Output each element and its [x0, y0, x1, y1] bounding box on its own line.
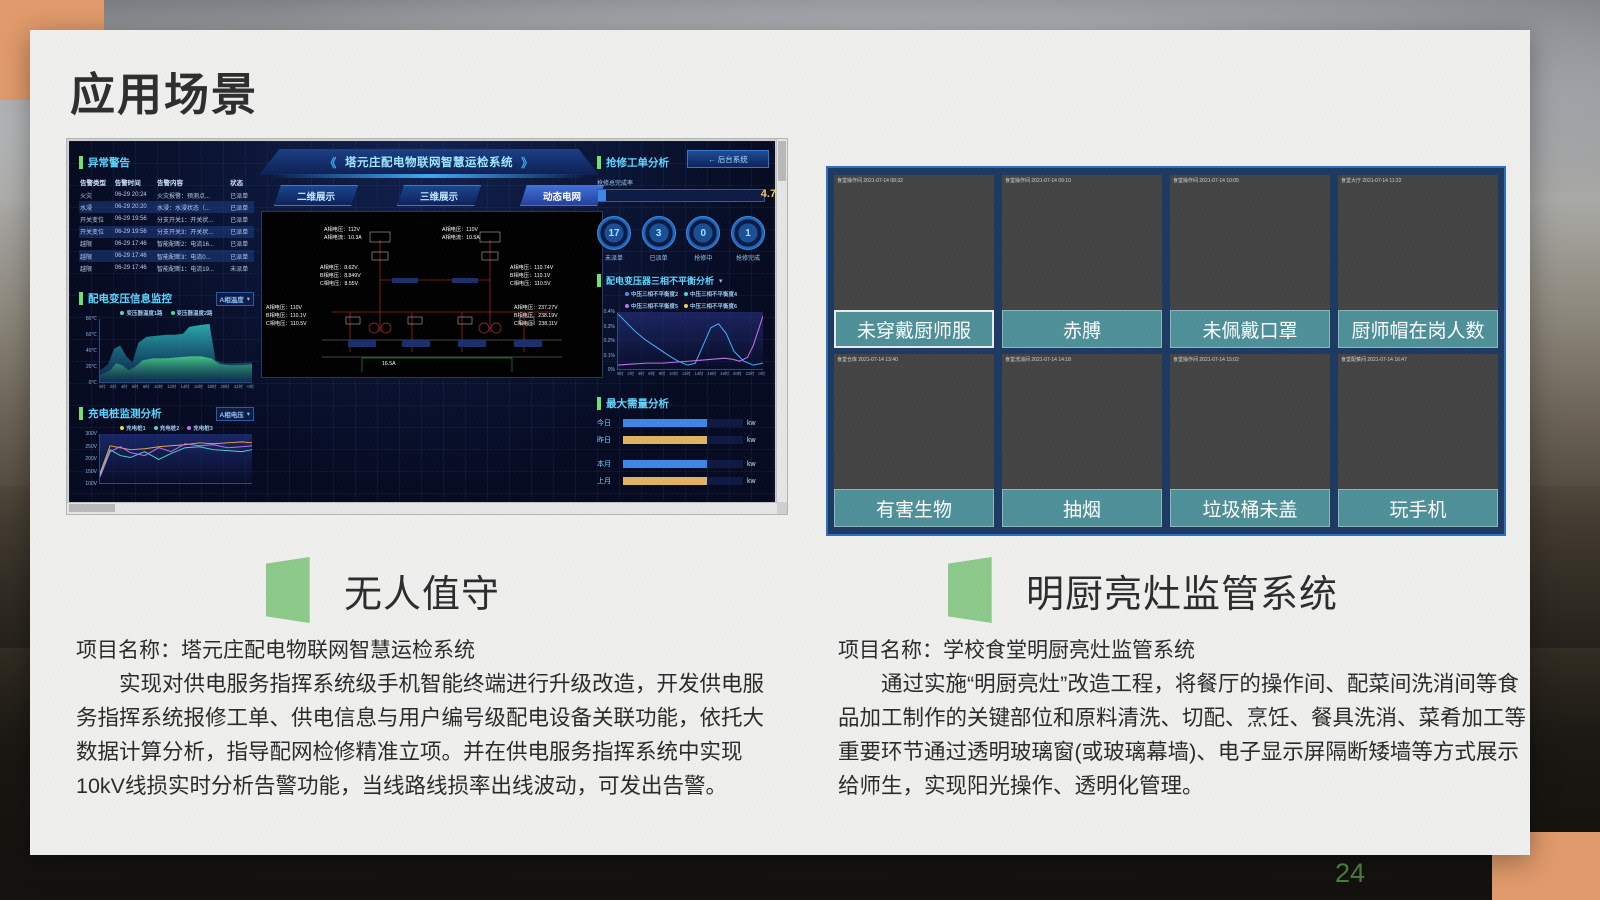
- unbalance-y-axis: 0.4%0.3%0.2%0.1%0%: [597, 312, 615, 370]
- charger-plot: [99, 434, 252, 484]
- demand-bar: [623, 477, 743, 485]
- legend-swatch: [171, 311, 175, 315]
- transformer-panel-header: 配电变压信息监控 A相温度 ▾: [79, 291, 254, 306]
- gauge-value: 3: [642, 216, 676, 250]
- demand-unit: kw: [747, 437, 765, 444]
- axis-tick: 20时: [733, 371, 742, 380]
- axis-tick: 14时: [181, 384, 190, 393]
- alert-panel-title: 异常警告: [88, 155, 130, 170]
- camera-photo[interactable]: 食堂洗消间 2021-07-14 14:18: [1002, 354, 1162, 489]
- axis-tick: 150V: [85, 469, 97, 475]
- repair-order-panel: 抢修工单分析 抢修总完成率 4.76% 17未派单3已派单0抢修中1抢修完成: [597, 155, 765, 262]
- cell-status: 已派单: [229, 201, 254, 213]
- cell-time: 06-29 19:56: [114, 213, 156, 225]
- dashboard-title: 塔元庄配电物联网智慧运检系统: [345, 154, 513, 170]
- unbalance-panel-header: 配电变压器三相不平衡分析 ▾: [597, 274, 765, 287]
- camera-timestamp: 食堂仓库 2021-07-14 13:40: [837, 356, 898, 363]
- cell-type: 越限: [79, 238, 114, 250]
- axis-tick: 250V: [85, 444, 97, 450]
- chevron-down-icon: ▾: [247, 410, 250, 418]
- chevron-down-icon[interactable]: ▾: [719, 277, 723, 285]
- charger-phase-select[interactable]: A相电压 ▾: [216, 407, 254, 421]
- axis-tick: 0时: [247, 384, 254, 393]
- camera-row: 食堂操作间 2021-07-14 08:32未穿戴厨师服食堂操作间 2021-0…: [832, 172, 1500, 351]
- axis-tick: 2时: [627, 371, 634, 380]
- camera-label[interactable]: 玩手机: [1338, 489, 1498, 527]
- charger-chart: 300V250V200V150V100V: [79, 434, 254, 494]
- legend-swatch: [625, 304, 629, 308]
- axis-tick: 8时: [143, 384, 150, 393]
- cell-content: 智能配断3：电流0...: [156, 250, 229, 262]
- cell-type: 越限: [79, 262, 114, 274]
- nav-button-3d[interactable]: 三维展示: [397, 185, 481, 206]
- legend-swatch: [120, 311, 124, 315]
- table-row[interactable]: 开关变位06-29 19:56分支开关1：开关状...已派单: [79, 213, 254, 225]
- section-right-project: 项目名称：学校食堂明厨亮灶监管系统: [838, 634, 1538, 664]
- camera-label[interactable]: 未穿戴厨师服: [834, 310, 994, 348]
- col-content: 告警内容: [156, 175, 229, 189]
- unbalance-panel: 配电变压器三相不平衡分析 ▾ 中压三相不平衡度2 中压三相不平衡度4 中压三相不…: [597, 274, 765, 380]
- transformer-monitor-panel: 配电变压信息监控 A相温度 ▾ 变压器温度1路 变压器温度2路 80℃60℃40…: [79, 291, 254, 393]
- axis-tick: 4时: [121, 384, 128, 393]
- legend-item: 中压三相不平衡度5: [625, 302, 678, 310]
- alert-panel-header: 异常警告: [79, 155, 254, 170]
- cell-time: 06-29 17:46: [114, 250, 156, 262]
- axis-tick: 100V: [85, 481, 97, 487]
- legend-item: 变压器温度1路: [120, 309, 162, 317]
- axis-tick: 20℃: [86, 364, 97, 370]
- diagram-label: A相电压：110VA相电流：10.5A: [442, 226, 480, 242]
- axis-tick: 300V: [85, 431, 97, 437]
- table-row[interactable]: 越限06-29 17:46智能配断2：电流16...已派单: [79, 238, 254, 250]
- unbalance-panel-title: 配电变压器三相不平衡分析: [606, 274, 714, 287]
- camera-label[interactable]: 厨师帽在岗人数: [1338, 310, 1498, 348]
- demand-row: 本月kw: [597, 459, 765, 469]
- camera-cell[interactable]: 食堂操作间 2021-07-14 09:10赤膊: [1002, 175, 1162, 348]
- table-row[interactable]: 水浸06-29 20:20水浸：水浸状态（...已派单: [79, 201, 254, 213]
- bookmark-shape-icon: [948, 557, 1004, 623]
- cell-content: 分支开关3：开关状...: [156, 226, 229, 238]
- header-underline: [269, 174, 589, 178]
- axis-tick: 16时: [194, 384, 203, 393]
- diagram-label: A相电压：8.62VB相电压：8.849VC相电压：8.55V: [320, 264, 361, 288]
- section-left: 无人值守 项目名称：塔元庄配电物联网智慧运检系统 实现对供电服务指挥系统级手机智…: [76, 550, 776, 804]
- select-value: A相温度: [220, 294, 244, 304]
- axis-tick: 8时: [659, 371, 666, 380]
- demand-unit: kw: [747, 420, 765, 427]
- panel-marker-icon: [597, 397, 601, 410]
- progress-fill: [598, 190, 606, 201]
- gauge-label: 未派单: [597, 253, 631, 262]
- axis-tick: 6时: [648, 371, 655, 380]
- nav-button-dynamic-grid[interactable]: 动态电网: [520, 185, 604, 206]
- charger-panel-header: 充电桩监测分析 A相电压 ▾: [79, 406, 254, 421]
- progress-value: 4.76%: [761, 188, 775, 200]
- table-row[interactable]: 开关变位06-29 19:56分支开关3：开关状...已派单: [79, 226, 254, 238]
- table-row[interactable]: 越限06-29 17:46智能配断1：电流19...未派单: [79, 262, 254, 274]
- axis-tick: 0.1%: [604, 353, 615, 359]
- order-panel-title: 抢修工单分析: [606, 155, 669, 170]
- camera-timestamp: 食堂洗消间 2021-07-14 14:18: [1005, 356, 1071, 363]
- camera-label[interactable]: 赤膊: [1002, 310, 1162, 348]
- demand-panel-header: 最大需量分析: [597, 396, 765, 411]
- nav-button-2d[interactable]: 二维展示: [274, 185, 358, 206]
- transformer-plot: [99, 319, 252, 383]
- camera-label[interactable]: 抽烟: [1002, 489, 1162, 527]
- demand-bar: [623, 460, 743, 468]
- camera-photo[interactable]: 食堂操作间 2021-07-14 08:32: [834, 175, 994, 310]
- alert-table: 告警类型 告警时间 告警内容 状态 火灾06-29 20:24火灾报警：预测点.…: [79, 175, 254, 274]
- section-left-body: 实现对供电服务指挥系统级手机智能终端进行升级改造，开发供电服务指挥系统报修工单、…: [76, 668, 776, 804]
- panel-marker-icon: [79, 407, 83, 420]
- legend-item: 变压器温度2路: [171, 309, 213, 317]
- legend-swatch: [187, 426, 191, 430]
- cell-type: 火灾: [79, 189, 114, 201]
- col-type: 告警类型: [79, 175, 114, 189]
- gauge-label: 抢修中: [686, 253, 720, 262]
- axis-tick: 40℃: [86, 348, 97, 354]
- camera-timestamp: 食堂操作间 2021-07-14 09:10: [1005, 177, 1071, 184]
- camera-label[interactable]: 垃圾桶未盖: [1170, 489, 1330, 527]
- legend-item: 充电桩3: [187, 424, 213, 432]
- table-row[interactable]: 越限06-29 17:46智能配断3：电流0...已派单: [79, 250, 254, 262]
- cell-status: 未派单: [229, 262, 254, 274]
- select-value: A相电压: [220, 409, 244, 419]
- cell-time: 06-29 20:20: [114, 201, 156, 213]
- camera-grid: 食堂操作间 2021-07-14 08:32未穿戴厨师服食堂操作间 2021-0…: [826, 166, 1506, 536]
- axis-tick: 0.3%: [604, 324, 615, 330]
- camera-label[interactable]: 有害生物: [834, 489, 994, 527]
- camera-cell[interactable]: 食堂洗消间 2021-07-14 14:18抽烟: [1002, 354, 1162, 527]
- demand-label: 本月: [597, 459, 619, 469]
- camera-row: 食堂仓库 2021-07-14 13:40有害生物食堂洗消间 2021-07-1…: [832, 351, 1500, 530]
- slide-card: 应用场景 《 塔元庄配电物联网智慧运检系统 》 ← 后台系统 二维展示 三维展示…: [30, 30, 1530, 855]
- legend-item: 充电桩1: [120, 424, 146, 432]
- axis-tick: 0%: [608, 367, 615, 373]
- cell-type: 越限: [79, 250, 114, 262]
- dashboard-nav: 二维展示 三维展示 动态电网: [274, 185, 604, 206]
- camera-cell[interactable]: 食堂操作间 2021-07-14 08:32未穿戴厨师服: [834, 175, 994, 348]
- unbalance-plot: [617, 312, 763, 370]
- diagram-label: 16.5A: [382, 360, 396, 368]
- legend-swatch: [154, 426, 158, 430]
- cell-type: 开关变位: [79, 213, 114, 225]
- camera-photo[interactable]: 食堂操作间 2021-07-14 09:10: [1002, 175, 1162, 310]
- camera-cell[interactable]: 食堂仓库 2021-07-14 13:40有害生物: [834, 354, 994, 527]
- cell-time: 06-29 19:56: [114, 226, 156, 238]
- single-line-diagram[interactable]: A相电压：112VA相电流：10.3AA相电压：110VA相电流：10.5AA相…: [261, 211, 603, 378]
- camera-photo[interactable]: 食堂大厅 2021-07-14 11:22: [1338, 175, 1498, 310]
- panel-marker-icon: [597, 156, 601, 169]
- cell-status: 已派单: [229, 250, 254, 262]
- legend-swatch: [684, 304, 688, 308]
- demand-label: 上月: [597, 476, 619, 486]
- axis-tick: 10时: [669, 371, 678, 380]
- axis-tick: 14时: [695, 371, 704, 380]
- demand-bar: [623, 436, 743, 444]
- gauge-label: 已派单: [642, 253, 676, 262]
- dashboard-horizontal-scrollbar[interactable]: [67, 502, 777, 514]
- demand-panel-title: 最大需量分析: [606, 396, 669, 411]
- charger-monitor-panel: 充电桩监测分析 A相电压 ▾ 充电桩1 充电桩2 充电桩3 300V250V20…: [79, 406, 254, 494]
- camera-cell[interactable]: 食堂大厅 2021-07-14 11:22厨师帽在岗人数: [1338, 175, 1498, 348]
- demand-label: 昨日: [597, 435, 619, 445]
- transformer-chart: 80℃60℃40℃20℃0℃ 0时2: [79, 319, 254, 393]
- axis-tick: 80℃: [86, 316, 97, 322]
- axis-tick: 200V: [85, 456, 97, 462]
- axis-tick: 0时: [617, 371, 624, 380]
- demand-rows: 今日kw昨日kw本月kw上月kw: [597, 418, 765, 486]
- panel-marker-icon: [79, 292, 83, 305]
- cell-type: 水浸: [79, 201, 114, 213]
- chevron-down-icon: ▾: [247, 295, 250, 303]
- demand-row: 上月kw: [597, 476, 765, 486]
- transformer-phase-select[interactable]: A相温度 ▾: [216, 292, 254, 306]
- gauge[interactable]: 3已派单: [642, 216, 676, 262]
- cell-content: 火灾报警：预测点...: [156, 189, 229, 201]
- cell-status: 已派单: [229, 226, 254, 238]
- panel-marker-icon: [79, 156, 83, 169]
- demand-row: 今日kw: [597, 418, 765, 428]
- axis-tick: 0.4%: [604, 309, 615, 315]
- dashboard-screenshot: 《 塔元庄配电物联网智慧运检系统 》 ← 后台系统 二维展示 三维展示 动态电网…: [66, 138, 788, 515]
- cell-content: 分支开关1：开关状...: [156, 213, 229, 225]
- cell-status: 已派单: [229, 189, 254, 201]
- bookmark-shape-icon: [266, 557, 322, 623]
- legend-swatch: [625, 292, 629, 296]
- legend-item: 中压三相不平衡度2: [625, 290, 678, 298]
- cell-time: 06-29 17:46: [114, 238, 156, 250]
- charger-legend: 充电桩1 充电桩2 充电桩3: [79, 424, 254, 432]
- charger-panel-title: 充电桩监测分析: [88, 406, 162, 421]
- gauge-label: 抢修完成: [731, 253, 765, 262]
- legend-swatch: [684, 292, 688, 296]
- section-left-header: 无人值守: [76, 550, 776, 630]
- axis-tick: 6时: [132, 384, 139, 393]
- chevron-left-icon: 《: [324, 154, 337, 171]
- camera-photo[interactable]: 食堂操作间 2021-07-14 10:05: [1170, 175, 1330, 310]
- legend-item: 中压三相不平衡度6: [684, 302, 737, 310]
- camera-label[interactable]: 未佩戴口罩: [1170, 310, 1330, 348]
- alert-panel: 异常警告 告警类型 告警时间 告警内容 状态 火灾06-29 20:24火灾报警…: [79, 155, 254, 274]
- cell-time: 06-29 17:46: [114, 262, 156, 274]
- panel-marker-icon: [597, 274, 601, 287]
- charger-x-axis: [99, 485, 254, 494]
- gauge-value: 1: [731, 216, 765, 250]
- diagram-label: A相电压：110.74VB相电压：110.1VC相电压：110.5V: [510, 264, 553, 288]
- cell-status: 已派单: [229, 213, 254, 225]
- demand-unit: kw: [747, 461, 765, 468]
- legend-item: 充电桩2: [154, 424, 180, 432]
- camera-cell[interactable]: 食堂操作间 2021-07-14 10:05未佩戴口罩: [1170, 175, 1330, 348]
- gauge[interactable]: 0抢修中: [686, 216, 720, 262]
- unbalance-legend: 中压三相不平衡度2 中压三相不平衡度4 中压三相不平衡度5 中压三相不平衡度6: [597, 290, 765, 310]
- scrollbar-thumb[interactable]: [778, 141, 786, 181]
- axis-tick: 0℃: [89, 380, 97, 386]
- scrollbar-thumb[interactable]: [69, 504, 115, 512]
- camera-photo[interactable]: 食堂操作间 2021-07-14 15:02: [1170, 354, 1330, 489]
- camera-timestamp: 食堂操作间 2021-07-14 15:02: [1173, 356, 1239, 363]
- camera-cell[interactable]: 食堂操作间 2021-07-14 15:02垃圾桶未盖: [1170, 354, 1330, 527]
- diagram-label: A相电压：110VB相电压：110.1VC相电压：110.5V: [266, 304, 307, 328]
- cell-type: 开关变位: [79, 226, 114, 238]
- demand-label: 今日: [597, 418, 619, 428]
- axis-tick: 16时: [707, 371, 716, 380]
- transformer-y-axis: 80℃60℃40℃20℃0℃: [79, 319, 97, 383]
- section-left-project: 项目名称：塔元庄配电物联网智慧运检系统: [76, 634, 776, 664]
- axis-tick: 4时: [638, 371, 645, 380]
- col-time: 告警时间: [114, 175, 156, 189]
- axis-tick: 22时: [234, 384, 243, 393]
- axis-tick: 22时: [746, 371, 755, 380]
- legend-item: 中压三相不平衡度4: [684, 290, 737, 298]
- diagram-label: A相电压：112VA相电流：10.3A: [324, 226, 362, 242]
- camera-photo[interactable]: 食堂配菜间 2021-07-14 16:47: [1338, 354, 1498, 489]
- axis-tick: 12时: [167, 384, 176, 393]
- gauge[interactable]: 17未派单: [597, 216, 631, 262]
- transformer-panel-title: 配电变压信息监控: [88, 291, 172, 306]
- axis-tick: 12时: [682, 371, 691, 380]
- section-right-title: 明厨亮灶监管系统: [1026, 563, 1338, 618]
- unbalance-chart: 0.4%0.3%0.2%0.1%0% 0时2时4时6时8时10时12时14时16…: [597, 312, 765, 380]
- camera-photo[interactable]: 食堂仓库 2021-07-14 13:40: [834, 354, 994, 489]
- axis-tick: 0时: [99, 384, 106, 393]
- gauge-value: 0: [686, 216, 720, 250]
- page-number: 24: [1335, 858, 1365, 889]
- progress-label: 抢修总完成率: [597, 178, 765, 187]
- dashboard-vertical-scrollbar[interactable]: [776, 139, 787, 502]
- demand-unit: kw: [747, 478, 765, 485]
- gauge-value: 17: [597, 216, 631, 250]
- page-title: 应用场景: [70, 58, 258, 123]
- col-status: 状态: [229, 175, 254, 189]
- transformer-legend: 变压器温度1路 变压器温度2路: [79, 309, 254, 317]
- charger-y-axis: 300V250V200V150V100V: [79, 434, 97, 484]
- table-row[interactable]: 火灾06-29 20:24火灾报警：预测点...已派单: [79, 189, 254, 201]
- axis-tick: 60℃: [86, 332, 97, 338]
- gauge-row: 17未派单3已派单0抢修中1抢修完成: [597, 216, 765, 262]
- axis-tick: 20时: [221, 384, 230, 393]
- diagram-label: A相电压：237.27VB相电压：238.19VC相电压：238.11V: [514, 304, 558, 328]
- axis-tick: 18时: [207, 384, 216, 393]
- camera-timestamp: 食堂操作间 2021-07-14 10:05: [1173, 177, 1239, 184]
- section-right: 明厨亮灶监管系统 项目名称：学校食堂明厨亮灶监管系统 通过实施“明厨亮灶”改造工…: [838, 550, 1538, 804]
- axis-tick: 10时: [154, 384, 163, 393]
- transformer-x-axis: 0时2时4时6时8时10时12时14时16时18时20时22时0时: [99, 384, 254, 393]
- cell-content: 水浸：水浸状态（...: [156, 201, 229, 213]
- camera-timestamp: 食堂配菜间 2021-07-14 16:47: [1341, 356, 1407, 363]
- dashboard-header: 《 塔元庄配电物联网智慧运检系统 》: [259, 149, 599, 175]
- dashboard-canvas: 《 塔元庄配电物联网智慧运检系统 》 ← 后台系统 二维展示 三维展示 动态电网…: [69, 141, 775, 502]
- axis-tick: 0.2%: [604, 338, 615, 344]
- section-right-body: 通过实施“明厨亮灶”改造工程，将餐厅的操作间、配菜间洗消间等食品加工制作的关键部…: [838, 668, 1538, 804]
- demand-panel: 最大需量分析 今日kw昨日kw本月kw上月kw: [597, 396, 765, 486]
- camera-cell[interactable]: 食堂配菜间 2021-07-14 16:47玩手机: [1338, 354, 1498, 527]
- unbalance-x-axis: 0时2时4时6时8时10时12时14时16时18时20时22时0时: [617, 371, 765, 380]
- demand-row: 昨日kw: [597, 435, 765, 445]
- table-header-row: 告警类型 告警时间 告警内容 状态: [79, 175, 254, 189]
- order-panel-header: 抢修工单分析: [597, 155, 765, 170]
- gauge[interactable]: 1抢修完成: [731, 216, 765, 262]
- chevron-right-icon: 》: [521, 154, 534, 171]
- axis-tick: 2时: [110, 384, 117, 393]
- cell-time: 06-29 20:24: [114, 189, 156, 201]
- axis-tick: 0时: [758, 371, 765, 380]
- cell-content: 智能配断2：电流16...: [156, 238, 229, 250]
- section-left-title: 无人值守: [344, 563, 500, 618]
- cell-content: 智能配断1：电流19...: [156, 262, 229, 274]
- section-right-header: 明厨亮灶监管系统: [838, 550, 1538, 630]
- cell-status: 已派单: [229, 238, 254, 250]
- camera-timestamp: 食堂操作间 2021-07-14 08:32: [837, 177, 903, 184]
- progress-bar: 4.76%: [597, 189, 765, 202]
- demand-bar: [623, 419, 743, 427]
- axis-tick: 18时: [720, 371, 729, 380]
- camera-timestamp: 食堂大厅 2021-07-14 11:22: [1341, 177, 1402, 184]
- legend-swatch: [120, 426, 124, 430]
